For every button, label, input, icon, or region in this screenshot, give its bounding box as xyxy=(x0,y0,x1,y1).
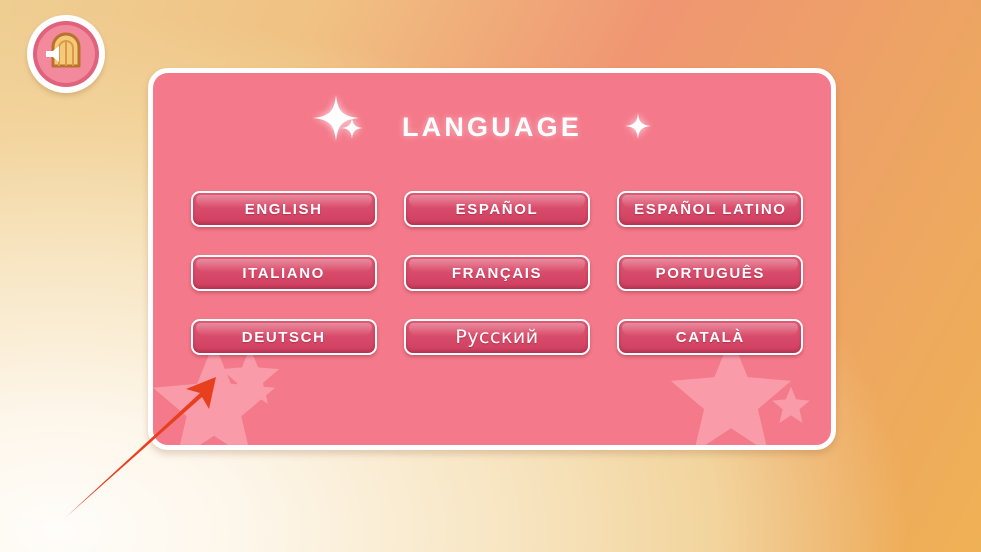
language-button-catala[interactable]: CATALÀ xyxy=(617,319,803,355)
star-bottom-right-small-icon xyxy=(771,385,811,425)
door-back-arrow-icon xyxy=(33,21,99,87)
language-button-label: Русский xyxy=(455,326,538,348)
language-button-deutsch[interactable]: DEUTSCH xyxy=(191,319,377,355)
language-button-grid: ENGLISHESPAÑOLESPAÑOL LATINOITALIANOFRAN… xyxy=(177,191,817,355)
language-button-label: ESPAÑOL xyxy=(456,201,539,218)
language-button-espanol[interactable]: ESPAÑOL xyxy=(404,191,590,227)
language-panel: LANGUAGE ENGLISHESPAÑOLESPAÑOL LATINOITA… xyxy=(148,68,836,450)
language-button-label: ESPAÑOL LATINO xyxy=(634,201,786,218)
language-button-label: PORTUGUÊS xyxy=(656,265,765,282)
language-button-label: ENGLISH xyxy=(245,201,323,218)
language-button-russkiy[interactable]: Русский xyxy=(404,319,590,355)
language-button-english[interactable]: ENGLISH xyxy=(191,191,377,227)
language-button-italiano[interactable]: ITALIANO xyxy=(191,255,377,291)
page-title: LANGUAGE xyxy=(153,112,831,143)
language-button-portugues[interactable]: PORTUGUÊS xyxy=(617,255,803,291)
language-button-label: ITALIANO xyxy=(242,265,325,282)
language-button-label: DEUTSCH xyxy=(242,329,326,346)
language-button-label: FRANÇAIS xyxy=(452,265,542,282)
language-settings-screen: LANGUAGE ENGLISHESPAÑOLESPAÑOL LATINOITA… xyxy=(0,0,981,552)
language-button-francais[interactable]: FRANÇAIS xyxy=(404,255,590,291)
back-button[interactable] xyxy=(27,15,105,93)
language-button-espanol-latino[interactable]: ESPAÑOL LATINO xyxy=(617,191,803,227)
language-button-label: CATALÀ xyxy=(676,329,745,346)
